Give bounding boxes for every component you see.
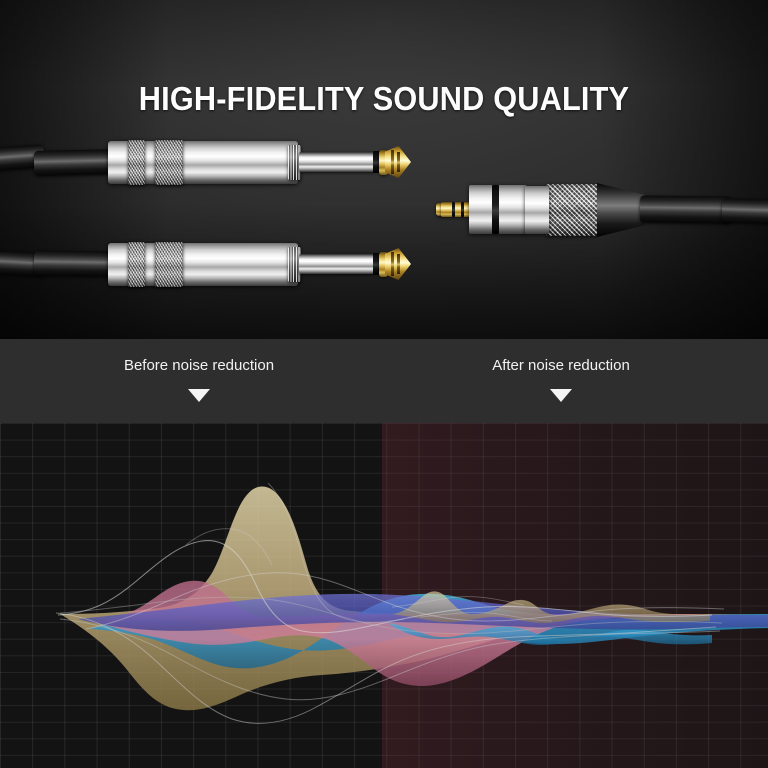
- gold-tip-ring: [397, 152, 400, 172]
- cable-segment: [34, 250, 116, 276]
- triangle-down-icon-after: [550, 389, 572, 402]
- barrel-link: [525, 186, 549, 234]
- knurl-grip: [546, 184, 598, 236]
- knurl-band-narrow: [128, 140, 145, 185]
- triangle-down-icon-before: [188, 389, 210, 402]
- barrel-black-ring: [492, 185, 499, 234]
- cable-segment: [640, 196, 732, 224]
- label-before-noise-reduction: Before noise reduction: [124, 357, 274, 374]
- tip-black-ring: [452, 202, 455, 217]
- gold-tip-ring: [391, 252, 394, 276]
- gold-tip-ring: [391, 150, 394, 174]
- comparison-label-band: Before noise reduction After noise reduc…: [0, 339, 768, 423]
- knurl-band-wide: [155, 242, 183, 287]
- hero-product-photo: HIGH-FIDELITY SOUND QUALITY: [0, 0, 768, 339]
- waveform-chart: [0, 423, 768, 768]
- label-after-noise-reduction: After noise reduction: [492, 357, 630, 374]
- cable-segment: [722, 198, 768, 223]
- product-feature-page: HIGH-FIDELITY SOUND QUALITY Before noise…: [0, 0, 768, 768]
- gold-tip-shaft: [441, 202, 471, 217]
- cable-segment: [34, 149, 117, 176]
- knurl-band-wide: [155, 140, 183, 185]
- gold-tip-ring: [397, 254, 400, 274]
- tip-black-ring: [461, 202, 464, 217]
- page-title: HIGH-FIDELITY SOUND QUALITY: [27, 80, 741, 118]
- plug-shaft: [299, 152, 375, 172]
- knurl-band-narrow: [128, 242, 145, 287]
- waveform-svg: [0, 423, 768, 768]
- plug-shaft: [299, 254, 375, 274]
